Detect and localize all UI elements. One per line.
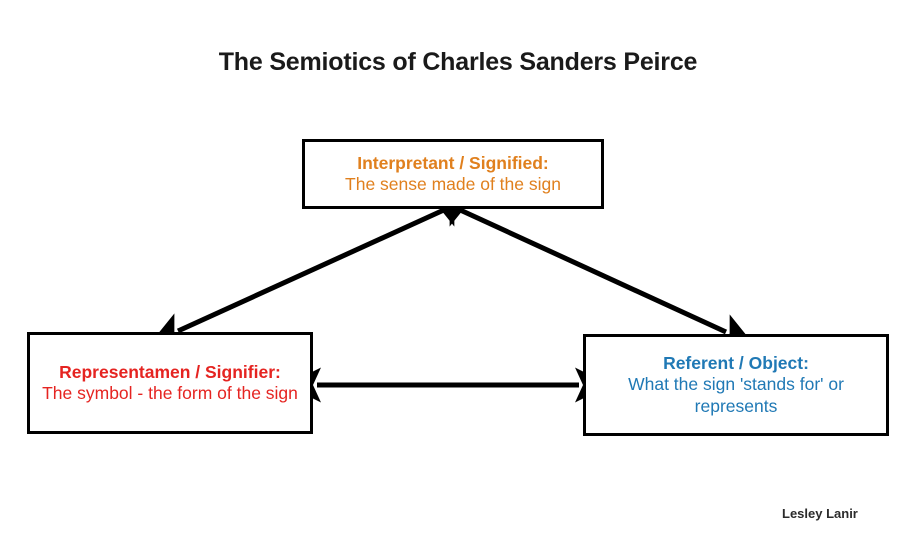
node-interpretant[interactable]: Interpretant / Signified: The sense made… <box>302 139 604 209</box>
edge-interpretant-referent <box>458 209 726 332</box>
node-referent-heading: Referent / Object: <box>663 353 809 374</box>
node-referent[interactable]: Referent / Object: What the sign 'stands… <box>583 334 889 436</box>
arrow-layer <box>0 0 916 536</box>
author-credit: Lesley Lanir <box>782 506 858 521</box>
diagram-canvas: The Semiotics of Charles Sanders Peirce … <box>0 0 916 536</box>
node-representamen[interactable]: Representamen / Signifier: The symbol - … <box>27 332 313 434</box>
node-referent-body: What the sign 'stands for' or represents <box>586 374 886 417</box>
edge-interpretant-representamen <box>178 209 446 331</box>
node-interpretant-body: The sense made of the sign <box>339 174 567 195</box>
node-representamen-heading: Representamen / Signifier: <box>59 362 281 383</box>
node-representamen-body: The symbol - the form of the sign <box>36 383 304 404</box>
page-title: The Semiotics of Charles Sanders Peirce <box>0 48 916 77</box>
node-interpretant-heading: Interpretant / Signified: <box>357 153 549 174</box>
